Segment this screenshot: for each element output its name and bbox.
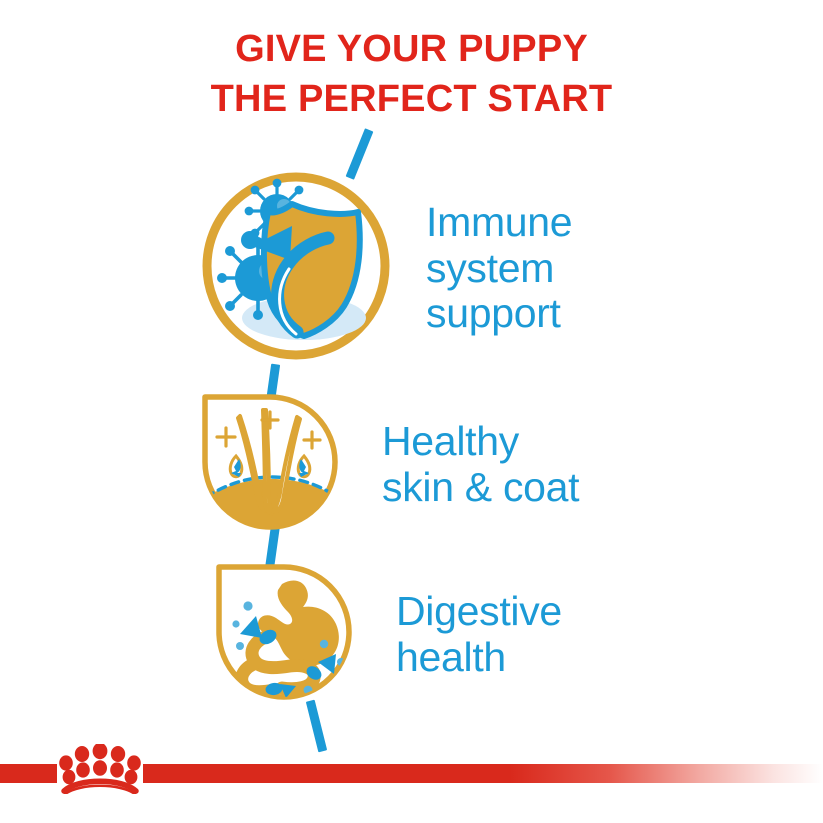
page-title: GIVE YOUR PUPPY THE PERFECT START [0,24,823,124]
royal-canin-crown-icon [56,744,144,794]
skin-coat-follicle-icon [196,388,344,541]
benefit-item-immune: Immune system support [196,168,572,369]
poster-canvas: GIVE YOUR PUPPY THE PERFECT START [0,0,823,823]
benefit-label-immune-line-3: support [426,291,572,337]
benefit-label-skin-line-1: Healthy [382,419,579,465]
benefit-label-digestive-line-1: Digestive [396,589,562,635]
benefit-label-skin-line-2: skin & coat [382,465,579,511]
immune-shield-icon [196,168,396,369]
benefit-item-digestive: Digestive health [210,558,562,711]
benefit-label-immune-line-2: system [426,246,572,292]
benefit-label-immune: Immune system support [426,200,572,337]
headline-line-1: GIVE YOUR PUPPY [0,24,823,74]
digestive-stomach-icon [210,558,358,711]
benefit-label-skin: Healthy skin & coat [382,419,579,510]
benefit-label-digestive: Digestive health [396,589,562,680]
benefit-label-digestive-line-2: health [396,635,562,681]
benefit-label-immune-line-1: Immune [426,200,572,246]
headline-line-2: THE PERFECT START [0,74,823,124]
benefit-item-skin: Healthy skin & coat [196,388,579,541]
